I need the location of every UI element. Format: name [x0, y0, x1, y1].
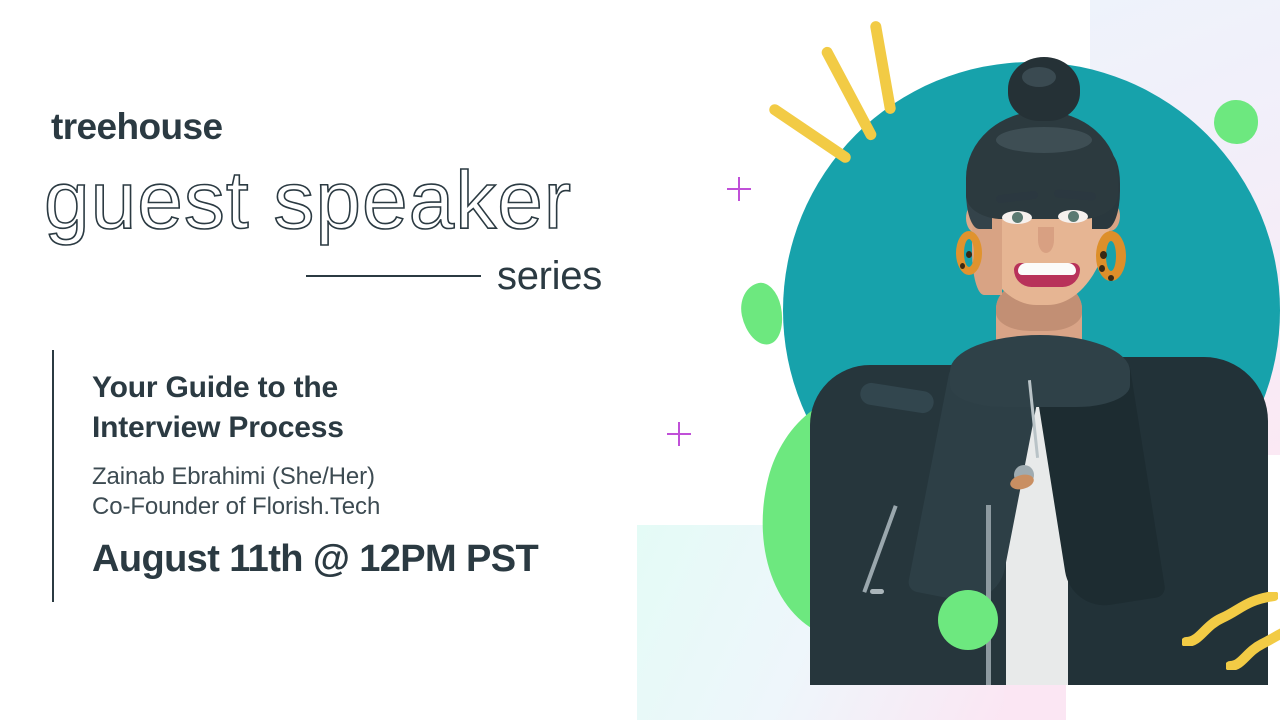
talk-title: Your Guide to the Interview Process	[92, 368, 562, 447]
headline-outlined: guest speaker	[44, 160, 572, 242]
series-label: series	[497, 256, 602, 296]
portrait-teeth	[1018, 263, 1076, 275]
speaker-role: Co-Founder of Florish.Tech	[92, 491, 380, 523]
portrait-earring-left	[956, 231, 982, 275]
portrait-jacket-collar	[950, 335, 1130, 407]
portrait-hair-sheen	[996, 127, 1092, 153]
series-divider-rule	[306, 275, 481, 277]
vertical-accent-bar	[52, 350, 54, 602]
yellow-squiggle-2	[1226, 622, 1280, 670]
portrait-jacket-zipper	[986, 505, 991, 685]
green-circle-top-right	[1214, 100, 1258, 144]
brand-wordmark: treehouse	[51, 108, 222, 145]
portrait-iris-left	[1012, 212, 1023, 223]
promo-slide: treehouse guest speaker series Your Guid…	[0, 0, 1280, 720]
plus-mark-1	[727, 177, 751, 201]
plus-mark-2	[667, 422, 691, 446]
speaker-name: Zainab Ebrahimi (She/Her)	[92, 461, 375, 493]
green-circle-bottom	[938, 590, 998, 650]
portrait-nose	[1038, 227, 1054, 253]
portrait-iris-right	[1068, 211, 1079, 222]
event-datetime: August 11th @ 12PM PST	[92, 536, 538, 584]
portrait-hair-bun-highlight	[1022, 67, 1056, 87]
portrait-earring-right	[1096, 231, 1126, 281]
green-blob-small	[736, 280, 788, 349]
portrait-jacket-zip-pull	[870, 589, 884, 594]
text-column: treehouse guest speaker series Your Guid…	[0, 0, 660, 720]
series-row: series	[306, 252, 626, 300]
